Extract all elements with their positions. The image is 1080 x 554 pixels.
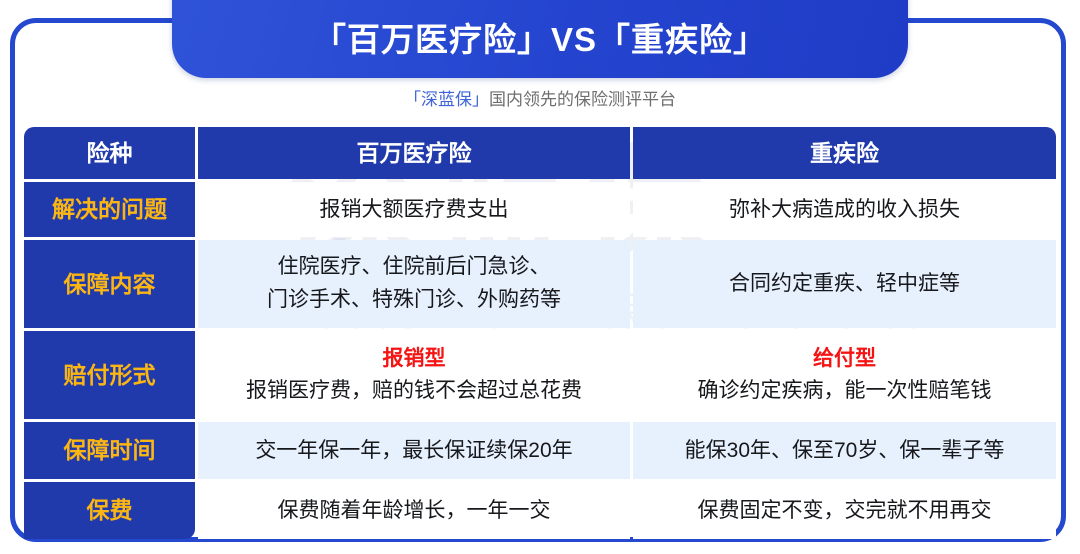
payout-desc-medical: 报销医疗费，赔的钱不会超过总花费 <box>246 376 582 406</box>
row-label-duration: 保障时间 <box>24 422 195 479</box>
comparison-table: 险种 百万医疗险 重疾险 解决的问题 报销大额医疗费支出 弥补大病造成的收入损失… <box>24 127 1056 539</box>
column-header-category: 险种 <box>24 127 195 179</box>
payout-desc-critical: 确诊约定疾病，能一次性赔笔钱 <box>698 376 992 406</box>
row-label-premium: 保费 <box>24 482 195 539</box>
column-header-critical: 重疾险 <box>633 127 1056 179</box>
table-row: 保障时间 交一年保一年，最长保证续保20年 能保30年、保至70岁、保一辈子等 <box>24 422 1056 479</box>
table-row: 保费 保费随着年龄增长，一年一交 保费固定不变，交完就不用再交 <box>24 482 1056 539</box>
subtitle: 「深蓝保」国内领先的保险测评平台 <box>0 88 1080 112</box>
subtitle-brand: 「深蓝保」 <box>404 90 489 109</box>
cell-medical-problem: 报销大额医疗费支出 <box>198 182 630 237</box>
table-row: 保障内容 住院医疗、住院前后门急诊、 门诊手术、特殊门诊、外购药等 合同约定重疾… <box>24 240 1056 328</box>
table-row: 赔付形式 报销型 报销医疗费，赔的钱不会超过总花费 给付型 确诊约定疾病，能一次… <box>24 331 1056 419</box>
payout-type-critical: 给付型 <box>813 344 876 374</box>
infographic-root: 「百万医疗险」VS「重疾险」 「深蓝保」国内领先的保险测评平台 深蓝保 国内领先… <box>0 0 1080 554</box>
cell-critical-payout: 给付型 确诊约定疾病，能一次性赔笔钱 <box>633 331 1056 419</box>
table-row: 解决的问题 报销大额医疗费支出 弥补大病造成的收入损失 <box>24 182 1056 237</box>
cell-critical-duration: 能保30年、保至70岁、保一辈子等 <box>633 422 1056 479</box>
row-label-payout: 赔付形式 <box>24 331 195 419</box>
cell-critical-problem: 弥补大病造成的收入损失 <box>633 182 1056 237</box>
cell-critical-coverage: 合同约定重疾、轻中症等 <box>633 240 1056 328</box>
cell-medical-coverage: 住院医疗、住院前后门急诊、 门诊手术、特殊门诊、外购药等 <box>198 240 630 328</box>
coverage-line-1: 住院医疗、住院前后门急诊、 <box>278 251 551 284</box>
row-label-problem: 解决的问题 <box>24 182 195 237</box>
row-label-coverage: 保障内容 <box>24 240 195 328</box>
title-banner: 「百万医疗险」VS「重疾险」 <box>172 0 908 78</box>
cell-medical-payout: 报销型 报销医疗费，赔的钱不会超过总花费 <box>198 331 630 419</box>
payout-type-medical: 报销型 <box>383 344 446 374</box>
subtitle-rest: 国内领先的保险测评平台 <box>489 90 676 109</box>
cell-critical-premium: 保费固定不变，交完就不用再交 <box>633 482 1056 539</box>
table-header-row: 险种 百万医疗险 重疾险 <box>24 127 1056 179</box>
cell-medical-duration: 交一年保一年，最长保证续保20年 <box>198 422 630 479</box>
cell-medical-premium: 保费随着年龄增长，一年一交 <box>198 482 630 539</box>
coverage-line-2: 门诊手术、特殊门诊、外购药等 <box>267 284 561 317</box>
page-title: 「百万医疗险」VS「重疾险」 <box>313 17 767 56</box>
column-header-medical: 百万医疗险 <box>198 127 630 179</box>
